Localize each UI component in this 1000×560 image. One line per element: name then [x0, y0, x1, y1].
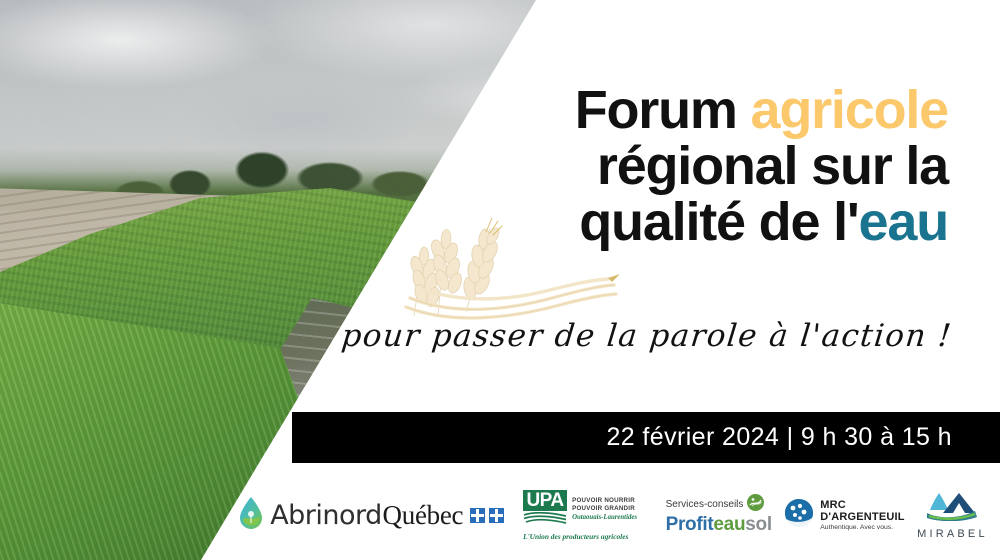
title-line-1: Forum agricole	[328, 82, 948, 138]
upa-tagline-line-2: POUVOIR GRANDIR	[572, 505, 637, 513]
abrinord-wordmark: Abrinord	[270, 500, 382, 531]
quebec-flag-icon	[470, 508, 504, 523]
mrc-line-1: MRC	[820, 499, 904, 511]
profiteausol-wordmark: Profiteausol	[666, 514, 772, 536]
upa-waves-icon: UPA	[523, 490, 567, 530]
poster-title: Forum agricole régional sur la qualité d…	[328, 82, 948, 250]
mirabel-wordmark: MIRABEL	[917, 528, 988, 540]
title-line-3: qualité de l'eau	[328, 194, 948, 250]
title-line-1-plain: Forum	[575, 80, 751, 140]
partner-logo-strip: Abrinord Québec UPA	[240, 470, 1000, 560]
mirabel-trees-icon	[917, 491, 988, 526]
date-time-text: 22 février 2024 | 9 h 30 à 15 h	[606, 412, 952, 463]
date-bar: 22 février 2024 | 9 h 30 à 15 h	[292, 412, 1000, 463]
quebec-wordmark: Québec	[383, 500, 464, 531]
profiteausol-top: Services-conseils	[666, 494, 772, 514]
title-line-2: régional sur la	[328, 138, 948, 194]
profiteausol-services-label: Services-conseils	[666, 499, 744, 510]
logo-upa[interactable]: UPA POUVOIR NOURRIR POUVOIR GRANDIR	[507, 487, 654, 543]
profiteausol-part-sol: sol	[745, 514, 772, 535]
script-subtitle: pour passer de la parole à l'action !	[210, 318, 954, 354]
argenteuil-droplet-icon	[784, 498, 814, 533]
title-line-1-highlight: agricole	[751, 80, 949, 140]
poster-canvas: Forum agricole régional sur la qualité d…	[0, 0, 1000, 560]
mrc-line-2: D'ARGENTEUIL	[820, 511, 904, 523]
water-drop-icon	[238, 496, 264, 535]
logo-mrc-argenteuil[interactable]: MRC D'ARGENTEUIL Authentique. Avec vous.	[784, 487, 905, 543]
upa-union-line: L'Union des producteurs agricoles	[523, 532, 637, 541]
upa-region: Outaouais-Laurentides	[572, 513, 637, 523]
profiteausol-part-profit: Profit	[666, 514, 714, 535]
upa-letters: UPA	[523, 490, 567, 511]
logo-quebec[interactable]: Québec	[380, 487, 507, 543]
logo-profiteausol[interactable]: Services-conseils Profiteausol	[653, 487, 784, 543]
profiteausol-circle-icon	[747, 494, 764, 514]
upa-tagline-line-1: POUVOIR NOURRIR	[572, 497, 637, 505]
logo-mirabel[interactable]: MIRABEL	[905, 487, 1000, 543]
profiteausol-part-eau: eau	[713, 514, 745, 535]
title-line-3-highlight: eau	[859, 192, 948, 252]
title-line-3-plain: qualité de l'	[579, 192, 858, 252]
mrc-tagline: Authentique. Avec vous.	[820, 524, 904, 531]
logo-abrinord[interactable]: Abrinord	[240, 487, 380, 543]
